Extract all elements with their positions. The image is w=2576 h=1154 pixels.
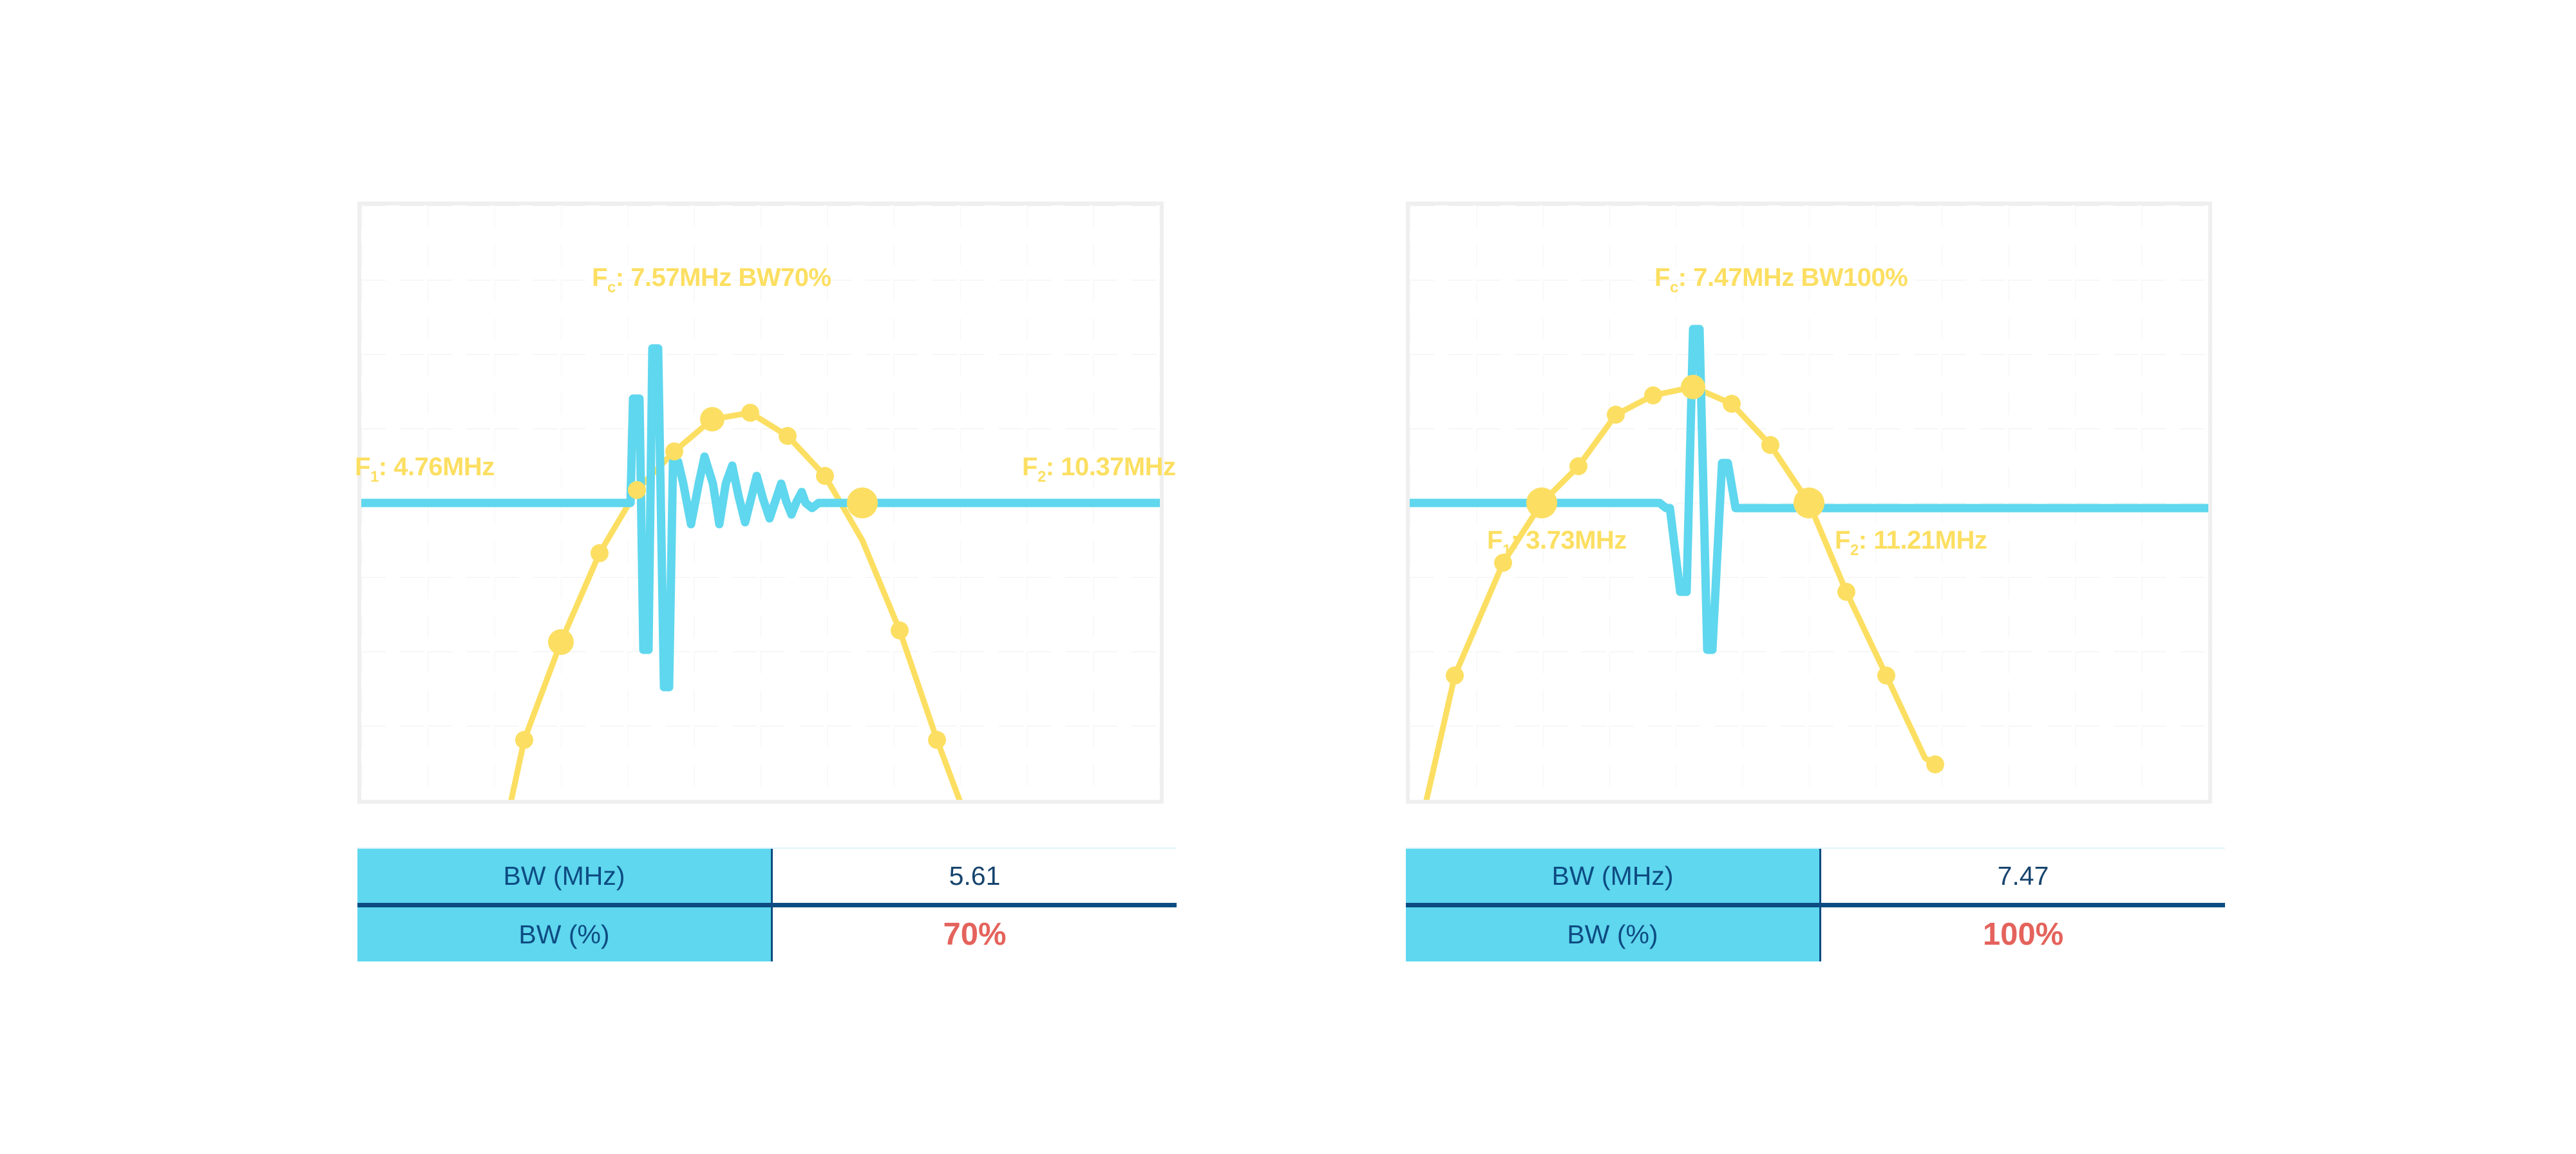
table-row-bw-mhz-right: BW (MHz) 7.47 [1406, 849, 2225, 907]
f1-text-right: : 3.73MHz [1511, 526, 1627, 554]
bw-table-left: BW (MHz) 5.61 BW (%) 70% [357, 847, 1177, 961]
panel-bw70: Fc: 7.57MHz BW70% F1: 4.76MHz F2: 10.37M… [357, 202, 1164, 804]
table-value-bw-pct-right: 100% [1821, 907, 2225, 961]
table-value-bw-pct-left: 70% [773, 907, 1177, 961]
panel-bw100: Fc: 7.47MHz BW100% F1: 3.73MHz F2: 11.21… [1406, 202, 2212, 804]
fc-subscript-left: c [607, 279, 616, 296]
annotation-lower-frequency-right: F1: 3.73MHz [1487, 527, 1627, 558]
annotation-center-frequency-left: Fc: 7.57MHz BW70% [592, 265, 831, 296]
fc-symbol-left: F [592, 263, 607, 292]
f2-text-right: : 11.21MHz [1859, 526, 1987, 554]
chart-box-bw70: Fc: 7.57MHz BW70% F1: 4.76MHz F2: 10.37M… [357, 202, 1164, 804]
annotation-lower-frequency-left: F1: 4.76MHz [355, 454, 495, 485]
chart-box-bw100: Fc: 7.47MHz BW100% F1: 3.73MHz F2: 11.21… [1406, 202, 2212, 804]
annotation-upper-frequency-right: F2: 11.21MHz [1835, 527, 1987, 558]
f1-symbol-left: F [355, 453, 370, 481]
f1-subscript-left: 1 [370, 468, 379, 486]
fc-symbol-right: F [1654, 263, 1670, 292]
annotation-center-frequency-right: Fc: 7.47MHz BW100% [1654, 265, 1908, 296]
page-root: Fc: 7.57MHz BW70% F1: 4.76MHz F2: 10.37M… [0, 0, 2576, 1154]
table-label-bw-mhz-right: BW (MHz) [1406, 849, 1821, 903]
bw-table-right: BW (MHz) 7.47 BW (%) 100% [1406, 847, 2225, 961]
f2-symbol-right: F [1835, 526, 1850, 554]
table-label-bw-pct-right: BW (%) [1406, 907, 1821, 961]
table-label-bw-mhz-left: BW (MHz) [357, 849, 773, 903]
table-value-bw-mhz-right: 7.47 [1821, 849, 2225, 903]
f2-subscript-left: 2 [1037, 468, 1046, 486]
fc-text-left: : 7.57MHz BW70% [616, 263, 831, 292]
annotation-upper-frequency-left: F2: 10.37MHz [1022, 454, 1176, 485]
f1-symbol-right: F [1487, 526, 1502, 554]
table-row-bw-pct-left: BW (%) 70% [357, 907, 1177, 961]
fc-text-right: : 7.47MHz BW100% [1678, 263, 1908, 292]
f1-text-left: : 4.76MHz [379, 453, 495, 481]
f2-symbol-left: F [1022, 453, 1037, 481]
f1-subscript-right: 1 [1502, 542, 1511, 559]
table-label-bw-pct-left: BW (%) [357, 907, 773, 961]
fc-subscript-right: c [1670, 279, 1678, 296]
table-value-bw-mhz-left: 5.61 [773, 849, 1177, 903]
f2-text-left: : 10.37MHz [1046, 453, 1176, 481]
f2-subscript-right: 2 [1850, 542, 1859, 559]
table-row-bw-mhz-left: BW (MHz) 5.61 [357, 849, 1177, 907]
table-row-bw-pct-right: BW (%) 100% [1406, 907, 2225, 961]
